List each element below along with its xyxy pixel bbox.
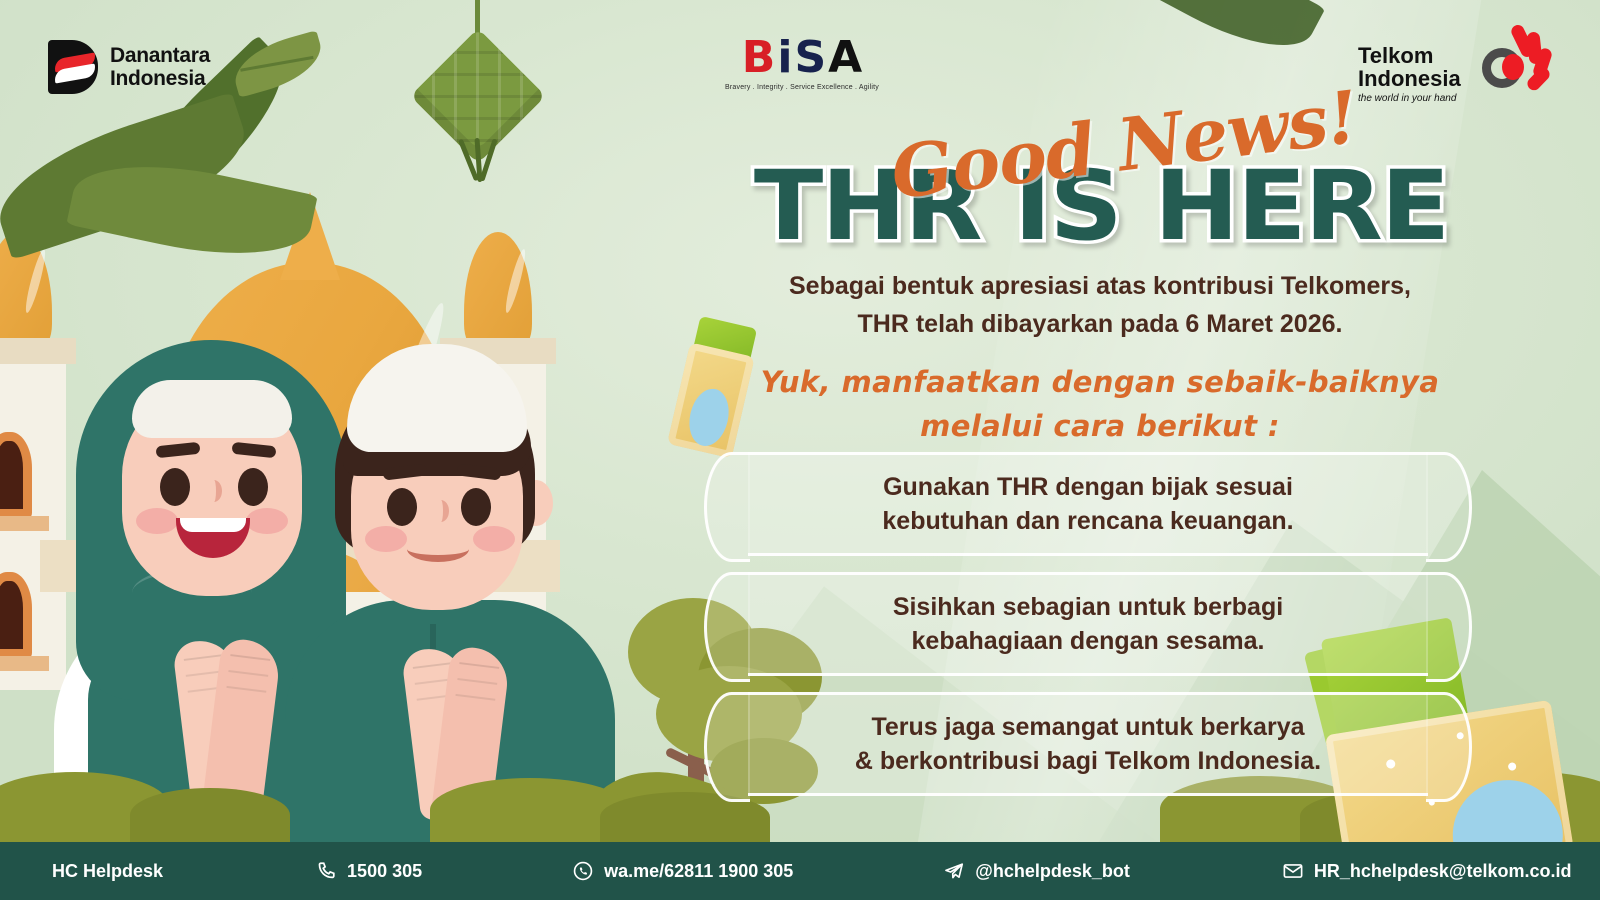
tip-line1: Terus jaga semangat untuk berkarya (855, 710, 1321, 744)
telegram-icon (943, 860, 965, 882)
ornament-left (704, 572, 750, 682)
telegram-handle: @hchelpdesk_bot (975, 861, 1130, 882)
email-icon (1282, 860, 1304, 882)
phone-icon (315, 860, 337, 882)
subtitle-line2-prefix: THR telah dibayarkan pada (858, 310, 1186, 338)
tip-line2: & berkontribusi bagi Telkom Indonesia. (855, 744, 1321, 778)
tip-card: Terus jaga semangat untuk berkarya & ber… (748, 692, 1428, 796)
danantara-line2: Indonesia (110, 67, 210, 90)
footer-contact-telegram[interactable]: @hchelpdesk_bot (943, 860, 1130, 882)
bisa-letter-a: A (828, 36, 862, 80)
bisa-logo: B i S A Bravery . Integrity . Service Ex… (722, 34, 882, 91)
tip-line1: Sisihkan sebagian untuk berbagi (893, 590, 1283, 624)
tip-text: Sisihkan sebagian untuk berbagi kebahagi… (863, 590, 1313, 658)
hanging-ketupat-icon (412, 0, 542, 200)
thr-announcement-poster: Danantara Indonesia B i S A Bravery . In… (0, 0, 1600, 900)
tip-line2: kebahagiaan dengan sesama. (893, 624, 1283, 658)
bisa-letter-s: S (794, 36, 826, 80)
peci-cap-icon (347, 344, 527, 452)
tip-text: Gunakan THR dengan bijak sesuai kebutuha… (852, 470, 1323, 538)
footer-contact-whatsapp[interactable]: wa.me/62811 1900 305 (572, 860, 793, 882)
bisa-tagline: Bravery . Integrity . Service Excellence… (722, 84, 882, 91)
palm-frond-icon (1125, 0, 1326, 71)
contact-footer: HC Helpdesk 1500 305 wa.me/62811 1900 30… (0, 842, 1600, 900)
telkom-logo: Telkom Indonesia the world in your hand (1358, 30, 1558, 104)
hc-helpdesk-label: HC Helpdesk (52, 861, 163, 882)
danantara-logo-text: Danantara Indonesia (110, 44, 210, 90)
tip-text: Terus jaga semangat untuk berkarya & ber… (825, 710, 1351, 778)
danantara-logo-icon (48, 40, 98, 94)
bisa-letter-b: B (742, 36, 776, 80)
tip-line2: kebutuhan dan rencana keuangan. (882, 504, 1293, 538)
whatsapp-icon (572, 860, 594, 882)
invitation-line2: melalui cara berikut : (735, 404, 1465, 448)
danantara-line1: Danantara (110, 44, 210, 67)
footer-label: HC Helpdesk (52, 861, 163, 882)
bisa-letter-i: i (777, 36, 792, 80)
tip-card: Gunakan THR dengan bijak sesuai kebutuha… (748, 452, 1428, 556)
subtitle: Sebagai bentuk apresiasi atas kontribusi… (735, 267, 1465, 343)
footer-contact-phone[interactable]: 1500 305 (315, 860, 422, 882)
danantara-logo: Danantara Indonesia (48, 40, 210, 94)
subtitle-line1: Sebagai bentuk apresiasi atas kontribusi… (735, 267, 1465, 305)
invitation-line1: Yuk, manfaatkan dengan sebaik-baiknya (735, 360, 1465, 404)
ornament-left (704, 692, 750, 802)
email-address: HR_hchelpdesk@telkom.co.id (1314, 861, 1572, 882)
tips-list: Gunakan THR dengan bijak sesuai kebutuha… (748, 452, 1428, 812)
invitation-text: Yuk, manfaatkan dengan sebaik-baiknya me… (735, 360, 1465, 448)
telkom-logo-icon (1472, 26, 1550, 90)
tip-line1: Gunakan THR dengan bijak sesuai (882, 470, 1293, 504)
whatsapp-number: wa.me/62811 1900 305 (604, 861, 793, 882)
footer-contact-email[interactable]: HR_hchelpdesk@telkom.co.id (1282, 860, 1572, 882)
bisa-logo-icon: B i S A (722, 34, 882, 80)
payment-date: 6 Maret 2026. (1185, 310, 1342, 338)
phone-number: 1500 305 (347, 861, 422, 882)
subtitle-line2: THR telah dibayarkan pada 6 Maret 2026. (735, 305, 1465, 343)
telkom-tagline: the world in your hand (1358, 93, 1558, 104)
ornament-left (704, 452, 750, 562)
tip-card: Sisihkan sebagian untuk berbagi kebahagi… (748, 572, 1428, 676)
